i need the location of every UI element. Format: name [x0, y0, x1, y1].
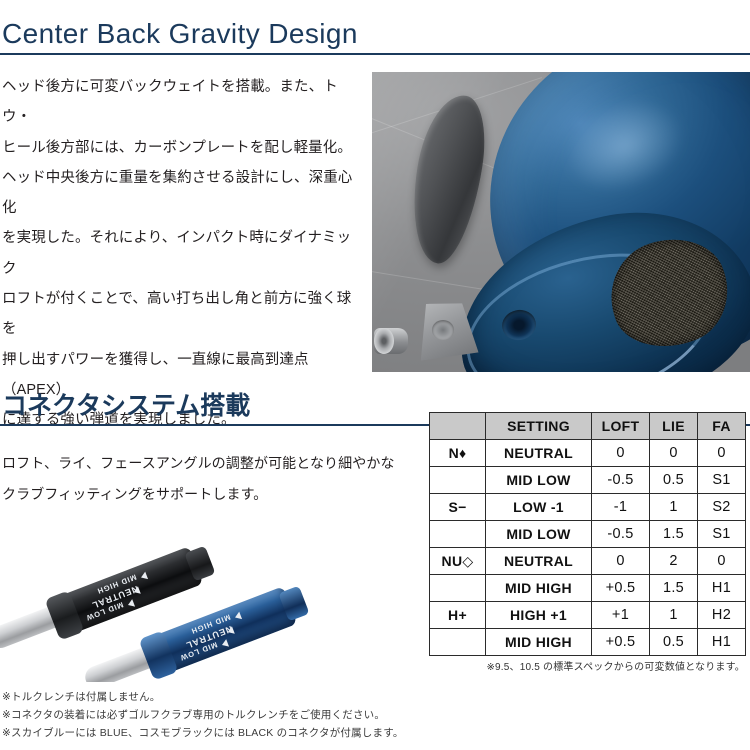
cell-fa: 0 [698, 548, 746, 575]
page-title: Center Back Gravity Design [0, 18, 750, 50]
back-weight-boss-hole [432, 320, 454, 340]
cell-loft: -0.5 [592, 521, 650, 548]
cell-loft: -1 [592, 494, 650, 521]
connector-tip [278, 586, 309, 622]
cell-setting: NEUTRAL [486, 440, 592, 467]
table-row: MID HIGH+0.51.5H1 [430, 575, 746, 602]
cell-lie: 2 [650, 548, 698, 575]
heading-divider [0, 53, 750, 55]
cell-loft: 0 [592, 548, 650, 575]
page-footnotes: ※トルクレンチは付属しません。 ※コネクタの装着には必ずゴルフクラブ専用のトルク… [2, 688, 404, 742]
cell-fa: H1 [698, 575, 746, 602]
loft-lie-fa-spec-table: SETTING LOFT LIE FA N♦NEUTRAL000MID LOW-… [429, 412, 746, 656]
cell-lie: 1.5 [650, 521, 698, 548]
table-row: MID LOW-0.50.5S1 [430, 467, 746, 494]
cell-key: N♦ [430, 440, 486, 467]
connector-description-text: ロフト、ライ、フェースアングルの調整が可能となり細やかな クラブフィッティングを… [2, 448, 402, 510]
table-header-row: SETTING LOFT LIE FA [430, 413, 746, 440]
connector-blue: MID HIGH NEUTRAL MID LOW [145, 586, 298, 676]
connector-black: MID HIGH NEUTRAL MID LOW [51, 546, 204, 636]
cell-lie: 1 [650, 494, 698, 521]
cell-lie: 1 [650, 602, 698, 629]
col-header-key [430, 413, 486, 440]
cell-setting: NEUTRAL [486, 548, 592, 575]
cell-loft: +1 [592, 602, 650, 629]
cell-key [430, 629, 486, 656]
cell-fa: S1 [698, 521, 746, 548]
cell-setting: HIGH +1 [486, 602, 592, 629]
cell-fa: H2 [698, 602, 746, 629]
col-header-loft: LOFT [592, 413, 650, 440]
cell-key: H+ [430, 602, 486, 629]
section-heading-gravity: Center Back Gravity Design [0, 18, 750, 55]
cell-lie: 0 [650, 440, 698, 467]
cell-loft: -0.5 [592, 467, 650, 494]
arrow-icon [221, 639, 229, 649]
col-header-setting: SETTING [486, 413, 592, 440]
connector-collar [139, 630, 179, 680]
connector-tip [184, 546, 215, 582]
cell-loft: +0.5 [592, 629, 650, 656]
cell-key [430, 467, 486, 494]
weight-screw-head [374, 328, 394, 354]
golf-driver-head-render [372, 72, 750, 372]
cell-lie: 0.5 [650, 467, 698, 494]
table-row: N♦NEUTRAL000 [430, 440, 746, 467]
arrow-icon [234, 612, 242, 622]
arrow-icon [140, 572, 148, 582]
table-row: MID LOW-0.51.5S1 [430, 521, 746, 548]
table-row: S−LOW -1-11S2 [430, 494, 746, 521]
cell-fa: S1 [698, 467, 746, 494]
cell-setting: LOW -1 [486, 494, 592, 521]
cell-key [430, 521, 486, 548]
product-detail-page: Center Back Gravity Design ヘッド後方に可変バックウェ… [0, 0, 750, 750]
arrow-icon [127, 599, 135, 609]
shaft-connectors-photo: MID HIGH NEUTRAL MID LOW MID HIGH NEUTRA… [0, 512, 420, 682]
cell-fa: H1 [698, 629, 746, 656]
col-header-lie: LIE [650, 413, 698, 440]
cell-setting: MID HIGH [486, 575, 592, 602]
table-row: MID HIGH+0.50.5H1 [430, 629, 746, 656]
cell-fa: 0 [698, 440, 746, 467]
cell-fa: S2 [698, 494, 746, 521]
cell-key: S− [430, 494, 486, 521]
cell-setting: MID LOW [486, 467, 592, 494]
gravity-description-text: ヘッド後方に可変バックウェイトを搭載。また、トウ・ ヒール後方部には、カーボンプ… [2, 72, 362, 436]
cell-loft: +0.5 [592, 575, 650, 602]
cell-key: NU◇ [430, 548, 486, 575]
connector-collar [45, 590, 85, 640]
cell-setting: MID LOW [486, 521, 592, 548]
cell-lie: 0.5 [650, 629, 698, 656]
col-header-fa: FA [698, 413, 746, 440]
cell-key [430, 575, 486, 602]
cell-setting: MID HIGH [486, 629, 592, 656]
cell-loft: 0 [592, 440, 650, 467]
table-row: NU◇NEUTRAL020 [430, 548, 746, 575]
cell-lie: 1.5 [650, 575, 698, 602]
table-row: H+HIGH +1+11H2 [430, 602, 746, 629]
table-footnote: ※9.5、10.5 の標準スペックからの可変数値となります。 [486, 658, 745, 673]
